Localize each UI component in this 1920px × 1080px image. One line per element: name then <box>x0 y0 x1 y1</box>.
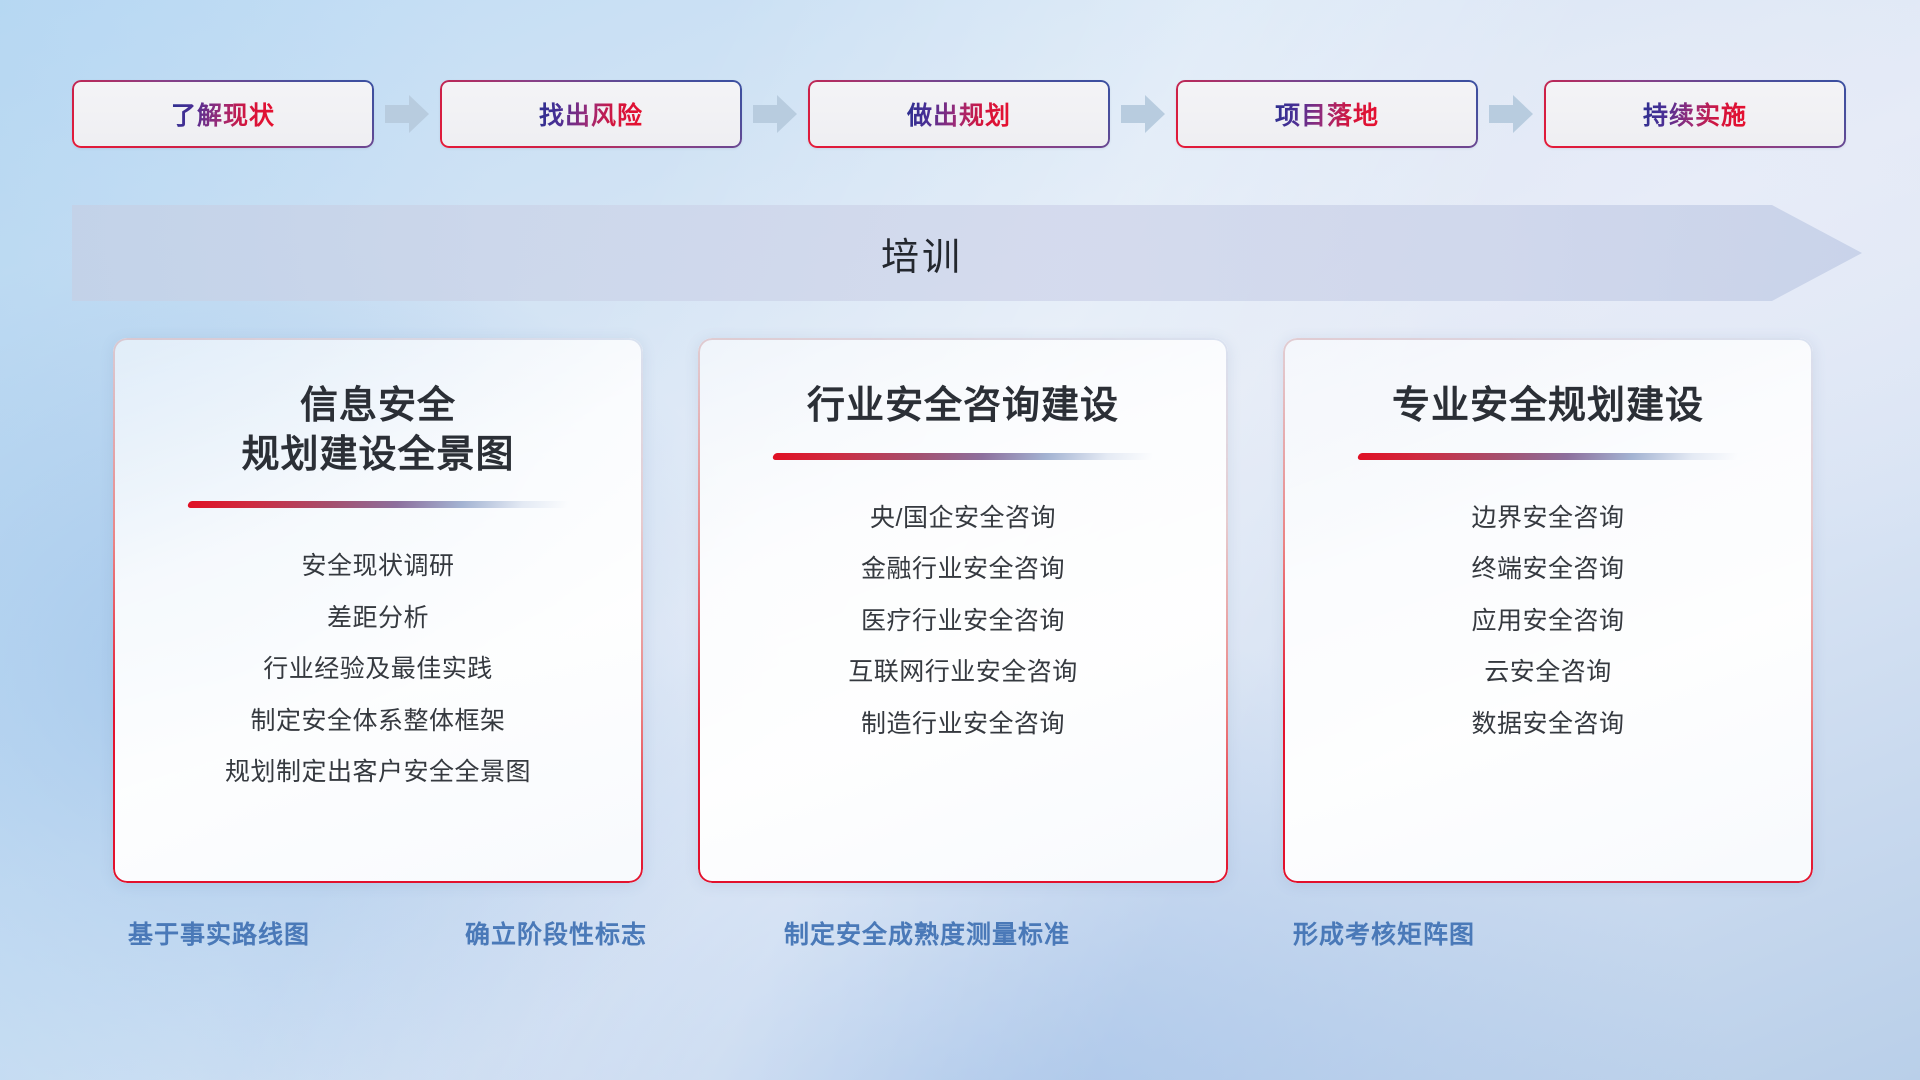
arrow-right-icon <box>1119 91 1167 137</box>
list-item: 应用安全咨询 <box>1471 603 1624 641</box>
list-item: 云安全咨询 <box>1484 654 1612 692</box>
list-item: 医疗行业安全咨询 <box>861 603 1065 641</box>
list-item: 安全现状调研 <box>301 548 454 586</box>
arrow-right-icon <box>1487 91 1535 137</box>
card-item-list: 边界安全咨询 终端安全咨询 应用安全咨询 云安全咨询 数据安全咨询 <box>1471 500 1624 744</box>
footer-label-row: 基于事实路线图 确立阶段性标志 制定安全成熟度测量标准 形成考核矩阵图 <box>0 915 1920 963</box>
card-item-list: 安全现状调研 差距分析 行业经验及最佳实践 制定安全体系整体框架 规划制定出客户… <box>225 548 531 792</box>
list-item: 边界安全咨询 <box>1471 500 1624 538</box>
card-title: 信息安全 规划建设全景图 <box>241 382 514 479</box>
step-label: 做出规划 <box>907 96 1011 132</box>
list-item: 行业经验及最佳实践 <box>263 651 493 689</box>
list-item: 数据安全咨询 <box>1471 706 1624 744</box>
list-item: 终端安全咨询 <box>1471 551 1624 589</box>
step-label: 了解现状 <box>171 96 275 132</box>
card-info-security-panorama[interactable]: 信息安全 规划建设全景图 安全现状调研 差距分析 行业经验及最佳实践 制定安全体… <box>113 338 643 883</box>
step-box-5[interactable]: 持续实施 <box>1544 80 1846 148</box>
footer-label-3: 制定安全成熟度测量标准 <box>784 915 1070 951</box>
list-item: 差距分析 <box>327 600 429 638</box>
list-item: 央/国企安全咨询 <box>870 500 1056 538</box>
list-item: 金融行业安全咨询 <box>861 551 1065 589</box>
banner-title: 培训 <box>72 205 1772 301</box>
process-step-row: 了解现状 找出风险 做出规划 项目落地 <box>72 78 1862 150</box>
list-item: 制造行业安全咨询 <box>861 706 1065 744</box>
step-box-2[interactable]: 找出风险 <box>440 80 742 148</box>
step-label: 找出风险 <box>539 96 643 132</box>
step-box-1[interactable]: 了解现状 <box>72 80 374 148</box>
footer-label-2: 确立阶段性标志 <box>465 915 647 951</box>
card-row: 信息安全 规划建设全景图 安全现状调研 差距分析 行业经验及最佳实践 制定安全体… <box>113 338 1813 883</box>
card-divider <box>772 453 1154 460</box>
footer-label-1: 基于事实路线图 <box>128 915 310 951</box>
card-professional-security-planning[interactable]: 专业安全规划建设 边界安全咨询 终端安全咨询 应用安全咨询 云安全咨询 数据安全… <box>1283 338 1813 883</box>
step-box-3[interactable]: 做出规划 <box>808 80 1110 148</box>
card-item-list: 央/国企安全咨询 金融行业安全咨询 医疗行业安全咨询 互联网行业安全咨询 制造行… <box>848 500 1078 744</box>
card-title: 专业安全规划建设 <box>1392 382 1704 431</box>
list-item: 规划制定出客户安全全景图 <box>225 754 531 792</box>
footer-label-4: 形成考核矩阵图 <box>1293 915 1475 951</box>
step-box-4[interactable]: 项目落地 <box>1176 80 1478 148</box>
arrow-right-icon <box>751 91 799 137</box>
step-label: 项目落地 <box>1275 96 1379 132</box>
card-title: 行业安全咨询建设 <box>807 382 1119 431</box>
card-divider <box>1357 453 1739 460</box>
card-industry-security-consulting[interactable]: 行业安全咨询建设 央/国企安全咨询 金融行业安全咨询 医疗行业安全咨询 互联网行… <box>698 338 1228 883</box>
list-item: 制定安全体系整体框架 <box>250 703 505 741</box>
arrow-right-icon <box>383 91 431 137</box>
training-banner: 培训 <box>72 205 1862 301</box>
slide-canvas: 了解现状 找出风险 做出规划 项目落地 <box>0 0 1920 1080</box>
card-divider <box>187 501 569 508</box>
step-label: 持续实施 <box>1643 96 1747 132</box>
list-item: 互联网行业安全咨询 <box>848 654 1078 692</box>
